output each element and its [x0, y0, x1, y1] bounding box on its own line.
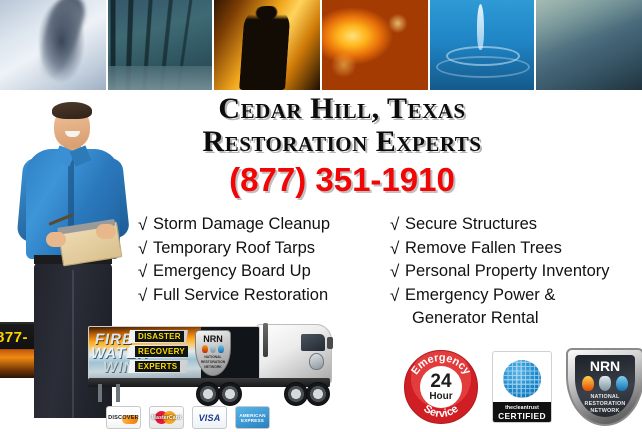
- flame-icon: [582, 376, 594, 391]
- page-title-line2: Restoration Experts: [112, 125, 572, 158]
- semi-truck-graphic: FIRE WATER WIND Disaster Recovery Expert…: [88, 326, 354, 410]
- flame-icon: [202, 345, 208, 353]
- trouser-seam: [72, 270, 74, 418]
- certification-badges: Emergency Service 24 Hour thecleantrust …: [404, 348, 642, 426]
- ripple-ring-outer: [436, 56, 530, 78]
- badge-number: 24: [430, 372, 451, 391]
- visa-label: VISA: [199, 413, 221, 423]
- service-label: Secure Structures: [405, 213, 537, 237]
- cab-window: [301, 334, 325, 351]
- emergency-24hour-badge: Emergency Service 24 Hour: [404, 350, 478, 424]
- discover-label: DISCOVER: [108, 415, 139, 421]
- hand-right: [96, 224, 116, 239]
- list-item: √ Secure Structures: [390, 213, 640, 237]
- check-icon: √: [390, 213, 405, 237]
- trailer-tag-disaster: Disaster: [135, 331, 184, 342]
- wave-photo: [534, 0, 642, 90]
- panel-divider: [106, 0, 108, 90]
- list-item: √ Remove Fallen Trees: [390, 237, 640, 261]
- service-list-left: √ Storm Damage Cleanup √ Temporary Roof …: [138, 213, 378, 307]
- cleantrust-certified-badge: thecleantrust CERTIFIED: [492, 351, 552, 423]
- water-drop-icon: [218, 345, 224, 353]
- tornado-photo: [0, 0, 106, 90]
- mastercard-label: MasterCard: [152, 415, 182, 421]
- truck-trailer: FIRE WATER WIND Disaster Recovery Expert…: [88, 326, 260, 382]
- list-item: √ Emergency Power &: [390, 284, 640, 308]
- firefighter-photo: [212, 0, 320, 90]
- discover-card-icon: DISCOVER: [106, 406, 141, 429]
- firefighter-silhouette: [239, 6, 291, 90]
- service-label: Temporary Roof Tarps: [153, 237, 315, 261]
- nrn-line3: NETWORK: [568, 408, 642, 415]
- hair: [52, 102, 92, 119]
- mastercard-card-icon: MasterCard: [149, 406, 184, 429]
- service-list-right: √ Secure Structures √ Remove Fallen Tree…: [390, 213, 640, 331]
- check-icon: √: [138, 284, 153, 308]
- hero-image-strip: [0, 0, 642, 90]
- list-item: √ Storm Damage Cleanup: [138, 213, 378, 237]
- wheel: [196, 382, 220, 406]
- list-item: √ Personal Property Inventory: [390, 260, 640, 284]
- nrn-initials: NRN: [568, 358, 642, 374]
- service-label-continuation: Generator Rental: [390, 307, 640, 331]
- service-label: Full Service Restoration: [153, 284, 328, 308]
- restoration-ad-banner: Cedar Hill, Texas Restoration Experts (8…: [0, 0, 642, 432]
- list-item: √ Full Service Restoration: [138, 284, 378, 308]
- droplet-column: [477, 4, 484, 50]
- check-icon: √: [390, 260, 405, 284]
- trailer-nrn-line3: NETWORK: [196, 365, 230, 370]
- badge-unit: Hour: [429, 392, 452, 402]
- phone-number[interactable]: (877) 351-1910: [112, 161, 572, 199]
- service-label: Emergency Power &: [405, 284, 555, 308]
- amex-card-icon: AMERICAN EXPRESS: [235, 406, 270, 429]
- fire-photo: [320, 0, 428, 90]
- wet-road: [106, 66, 212, 90]
- service-label: Personal Property Inventory: [405, 260, 610, 284]
- payment-methods: DISCOVER MasterCard VISA AMERICAN EXPRES…: [106, 406, 270, 429]
- check-icon: √: [138, 237, 153, 261]
- page-title-line1: Cedar Hill, Texas: [112, 92, 572, 125]
- list-item: √ Emergency Board Up: [138, 260, 378, 284]
- wheel: [306, 382, 330, 406]
- panel-divider: [428, 0, 430, 90]
- globe-icon: [503, 360, 541, 398]
- cab-shield-logo-icon: [309, 353, 324, 370]
- trailer-tag-experts: Experts: [135, 361, 180, 372]
- panel-divider: [320, 0, 322, 90]
- trailer-nrn-initials: NRN: [196, 334, 230, 344]
- water-drop-photo: [428, 0, 534, 90]
- panel-divider: [212, 0, 214, 90]
- hand-left: [46, 232, 66, 247]
- wheel: [218, 382, 242, 406]
- hurricane-photo: [106, 0, 212, 90]
- badge-center: 24 Hour: [420, 366, 462, 408]
- tornado-icon: [599, 376, 611, 391]
- check-icon: √: [138, 260, 153, 284]
- check-icon: √: [390, 284, 405, 308]
- truck-cab: [256, 324, 332, 384]
- cleantrust-status: CERTIFIED: [493, 411, 551, 421]
- tornado-icon: [210, 345, 216, 353]
- landing-gear: [116, 384, 120, 402]
- landing-gear: [98, 384, 102, 402]
- trailer-tag-recovery: Recovery: [135, 346, 188, 357]
- exhaust-stack: [263, 323, 268, 357]
- trailer-nrn-shield-icon: NRN NATIONAL RESTORATION NETWORK: [195, 330, 231, 376]
- side-mirror-icon: [327, 337, 333, 349]
- wheel: [284, 382, 308, 406]
- cleantrust-label-band: thecleantrust CERTIFIED: [493, 402, 551, 422]
- service-label: Emergency Board Up: [153, 260, 311, 284]
- headline-block: Cedar Hill, Texas Restoration Experts (8…: [112, 92, 572, 199]
- service-label: Remove Fallen Trees: [405, 237, 562, 261]
- panel-divider: [534, 0, 536, 90]
- amex-label: AMERICAN EXPRESS: [236, 413, 269, 423]
- service-label: Storm Damage Cleanup: [153, 213, 330, 237]
- check-icon: √: [138, 213, 153, 237]
- visa-card-icon: VISA: [192, 406, 227, 429]
- list-item: √ Temporary Roof Tarps: [138, 237, 378, 261]
- nrn-network-badge: NRN NATIONAL RESTORATION NETWORK: [566, 348, 642, 426]
- check-icon: √: [390, 237, 405, 261]
- water-drop-icon: [616, 376, 628, 391]
